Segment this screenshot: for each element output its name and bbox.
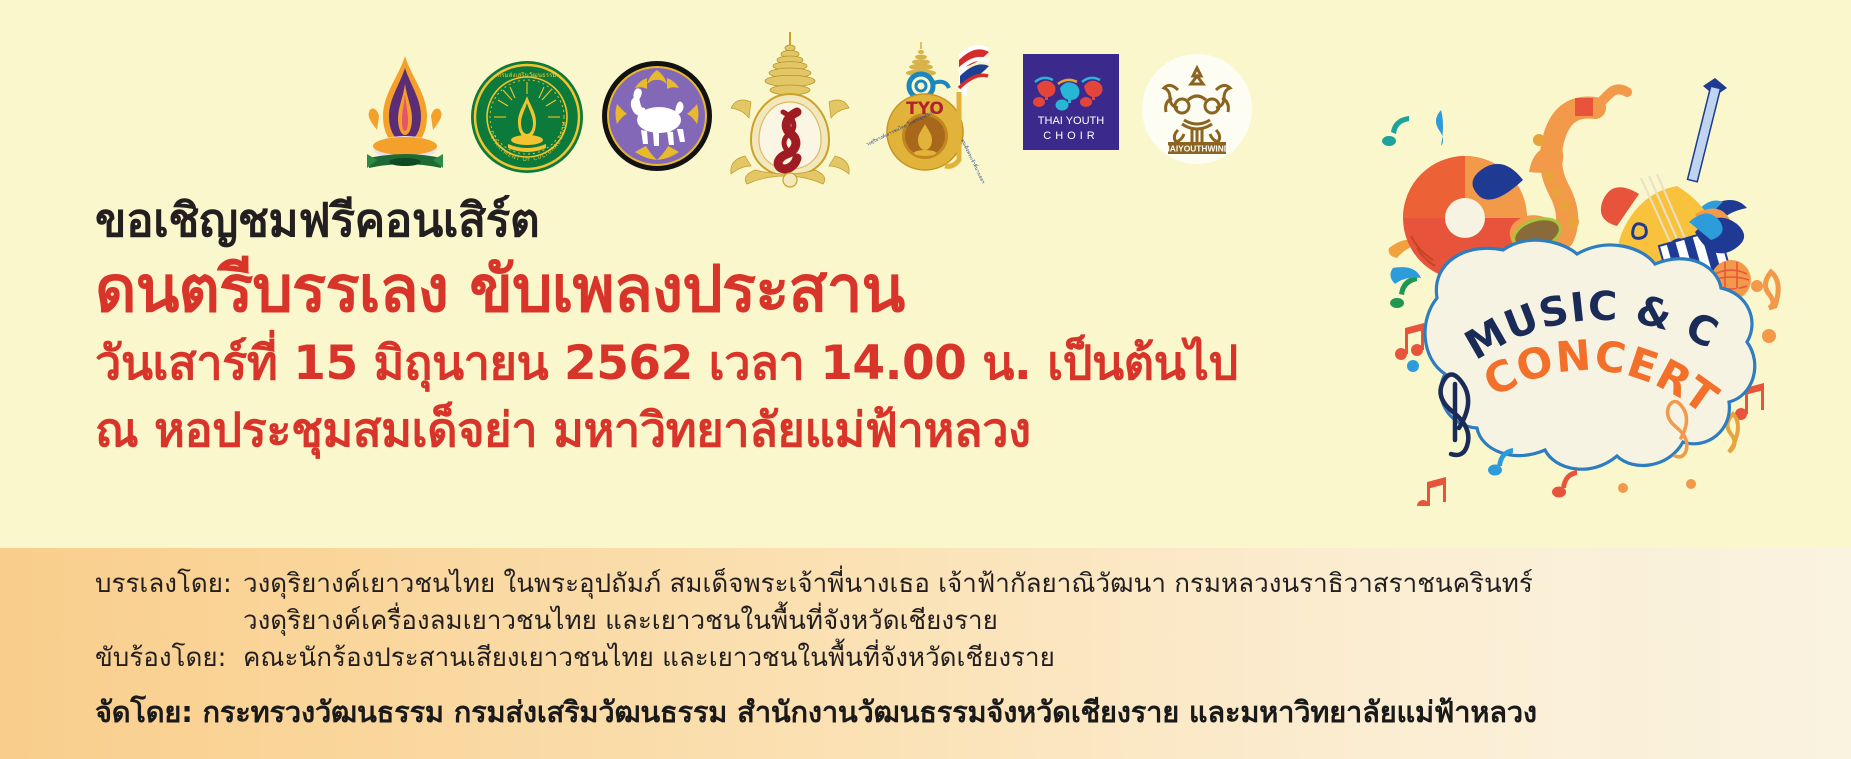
logo-thai-youth-orchestra: TYO วงดุริยางค์เยาวชนไทย ในพระอุปถัมภ์ ส… — [863, 36, 1003, 186]
logo-mae-fah-luang-university — [725, 30, 855, 190]
logo-thai-youth-winds: THAIYOUTHWINDS — [1142, 54, 1252, 164]
sung-by-label: ขับร้องโดย: — [95, 640, 243, 677]
invite-line: ขอเชิญชมฟรีคอนเสิร์ต — [95, 196, 1275, 245]
svg-text:สมเด็จพระเจ้าพี่นางเธอฯ: สมเด็จพระเจ้าพี่นางเธอฯ — [959, 137, 988, 185]
performed-by-value: วงดุริยางค์เยาวชนไทย ในพระอุปถัมภ์ สมเด็… — [243, 566, 1795, 603]
eighth-note-icon-2 — [1552, 470, 1577, 498]
credit-row-sung-by: ขับร้องโดย: คณะนักร้องประสานเสียงเยาวชนไ… — [95, 640, 1795, 677]
partner-logo-strip: กรมส่งเสริมวัฒนธรรม DEPARTMENT OF CULTUR… — [355, 22, 1355, 192]
performed-by-label: บรรเลงโดย: — [95, 566, 243, 603]
credit-row-performed-by: บรรเลงโดย: วงดุริยางค์เยาวชนไทย ในพระอุป… — [95, 566, 1795, 603]
choir-label-line2: CHOIR — [1043, 130, 1098, 142]
music-and-choir-concert-illustration: MUSIC & CHOIR CONCERT — [1377, 36, 1847, 506]
concert-poster: กรมส่งเสริมวัฒนธรรม DEPARTMENT OF CULTUR… — [0, 0, 1851, 759]
choir-label-line1: THAI YOUTH — [1038, 115, 1104, 127]
event-venue-line: ณ หอประชุมสมเด็จย่า มหาวิทยาลัยแม่ฟ้าหลว… — [95, 403, 1275, 459]
logo-chiang-rai-province-seal — [601, 60, 713, 172]
winds-label: THAIYOUTHWINDS — [1159, 144, 1236, 154]
logo-department-of-cultural-promotion: กรมส่งเสริมวัฒนธรรม DEPARTMENT OF CULTUR… — [470, 60, 584, 174]
hero-text-block: ขอเชิญชมฟรีคอนเสิร์ต ดนตรีบรรเลง ขับเพลง… — [95, 196, 1275, 459]
seal-outer-thai-text: กรมส่งเสริมวัฒนธรรม — [497, 72, 556, 79]
logo-ministry-of-culture-emblem — [355, 50, 455, 180]
credits-inner: บรรเลงโดย: วงดุริยางค์เยาวชนไทย ในพระอุป… — [95, 566, 1795, 735]
sung-by-value: คณะนักร้องประสานเสียงเยาวชนไทย และเยาวชน… — [243, 640, 1795, 677]
event-date-line: วันเสาร์ที่ 15 มิถุนายน 2562 เวลา 14.00 … — [95, 336, 1275, 392]
performed-by-value-line2: วงดุริยางค์เครื่องลมเยาวชนไทย และเยาวชนใ… — [95, 603, 1795, 640]
credits-band: บรรเลงโดย: วงดุริยางค์เยาวชนไทย ในพระอุป… — [0, 548, 1851, 759]
logo-thai-youth-choir: THAI YOUTH CHOIR — [1023, 54, 1119, 150]
page-title: ดนตรีบรรเลง ขับเพลงประสาน — [95, 253, 1275, 329]
organized-by-line: จัดโดย: กระทรวงวัฒนธรรม กรมส่งเสริมวัฒนธ… — [95, 689, 1795, 735]
